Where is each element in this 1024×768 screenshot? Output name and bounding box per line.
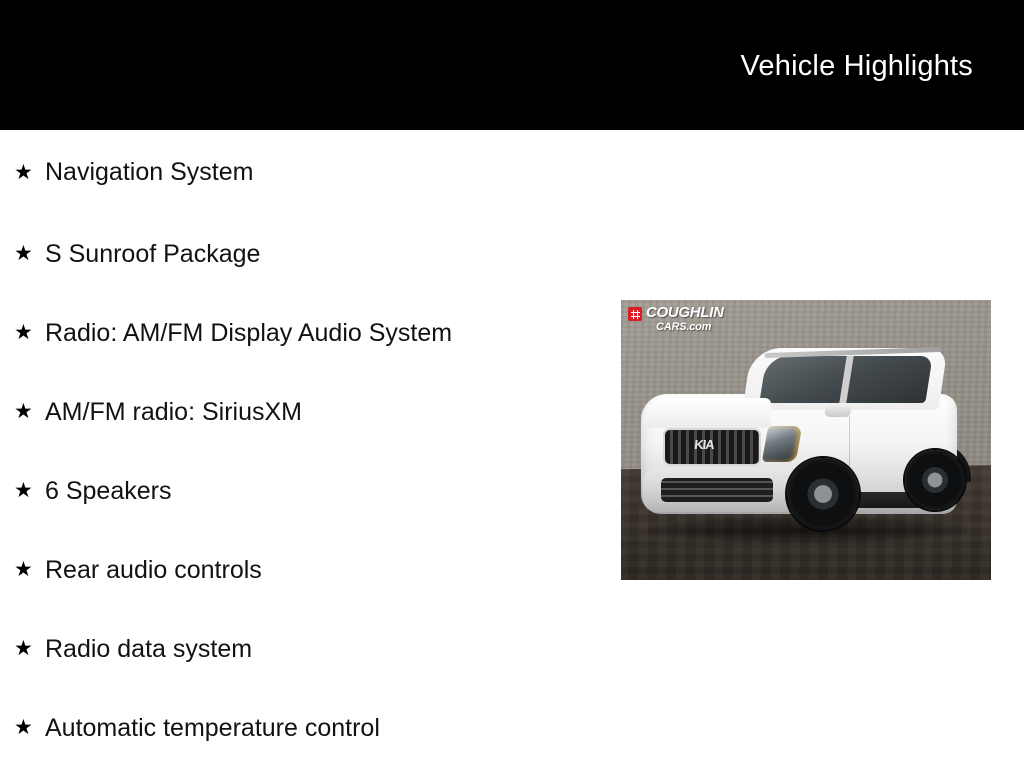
star-bullet-icon: ★: [14, 401, 45, 422]
star-bullet-icon: ★: [14, 559, 45, 580]
list-item: ★ Navigation System: [0, 130, 620, 214]
page-title: Vehicle Highlights: [740, 48, 973, 84]
kia-badge-icon: KIA: [688, 438, 719, 452]
vehicle-illustration: KIA: [637, 342, 977, 547]
list-item-label: Automatic temperature control: [45, 713, 380, 743]
star-bullet-icon: ★: [14, 243, 45, 264]
star-bullet-icon: ★: [14, 480, 45, 501]
list-item-label: Navigation System: [45, 157, 253, 187]
watermark-line-1: COUGHLIN: [646, 305, 724, 320]
list-item: ★ Radio: AM/FM Display Audio System: [0, 293, 620, 372]
list-item-label: 6 Speakers: [45, 476, 171, 506]
header-band: Vehicle Highlights: [0, 0, 1024, 130]
star-bullet-icon: ★: [14, 322, 45, 343]
list-item-label: Radio data system: [45, 634, 252, 664]
watermark-text: COUGHLIN CARS.com: [646, 305, 724, 333]
vehicle-highlights-list: ★ Navigation System ★ S Sunroof Package …: [0, 130, 620, 767]
vehicle-lower-grille: [661, 478, 773, 502]
star-bullet-icon: ★: [14, 162, 45, 183]
vehicle-photo: KIA COUGHLIN CARS.com: [621, 300, 991, 580]
list-item: ★ AM/FM radio: SiriusXM: [0, 372, 620, 451]
list-item-label: Radio: AM/FM Display Audio System: [45, 318, 452, 348]
vehicle-side-mirror: [824, 404, 853, 417]
list-item-label: Rear audio controls: [45, 555, 262, 585]
list-item: ★ S Sunroof Package: [0, 214, 620, 293]
list-item-label: AM/FM radio: SiriusXM: [45, 397, 302, 427]
vehicle-hood: [643, 398, 771, 428]
list-item: ★ Rear audio controls: [0, 530, 620, 609]
list-item: ★ 6 Speakers: [0, 451, 620, 530]
watermark-line-2: CARS.com: [656, 322, 724, 333]
rear-wheel: [905, 450, 965, 510]
star-bullet-icon: ★: [14, 638, 45, 659]
list-item: ★ Radio data system: [0, 609, 620, 688]
list-item: ★ Automatic temperature control: [0, 688, 620, 767]
coughlin-logo-icon: [628, 307, 642, 321]
list-item-label: S Sunroof Package: [45, 239, 260, 269]
front-wheel: [787, 458, 859, 530]
star-bullet-icon: ★: [14, 717, 45, 738]
dealer-watermark: COUGHLIN CARS.com: [628, 305, 724, 333]
